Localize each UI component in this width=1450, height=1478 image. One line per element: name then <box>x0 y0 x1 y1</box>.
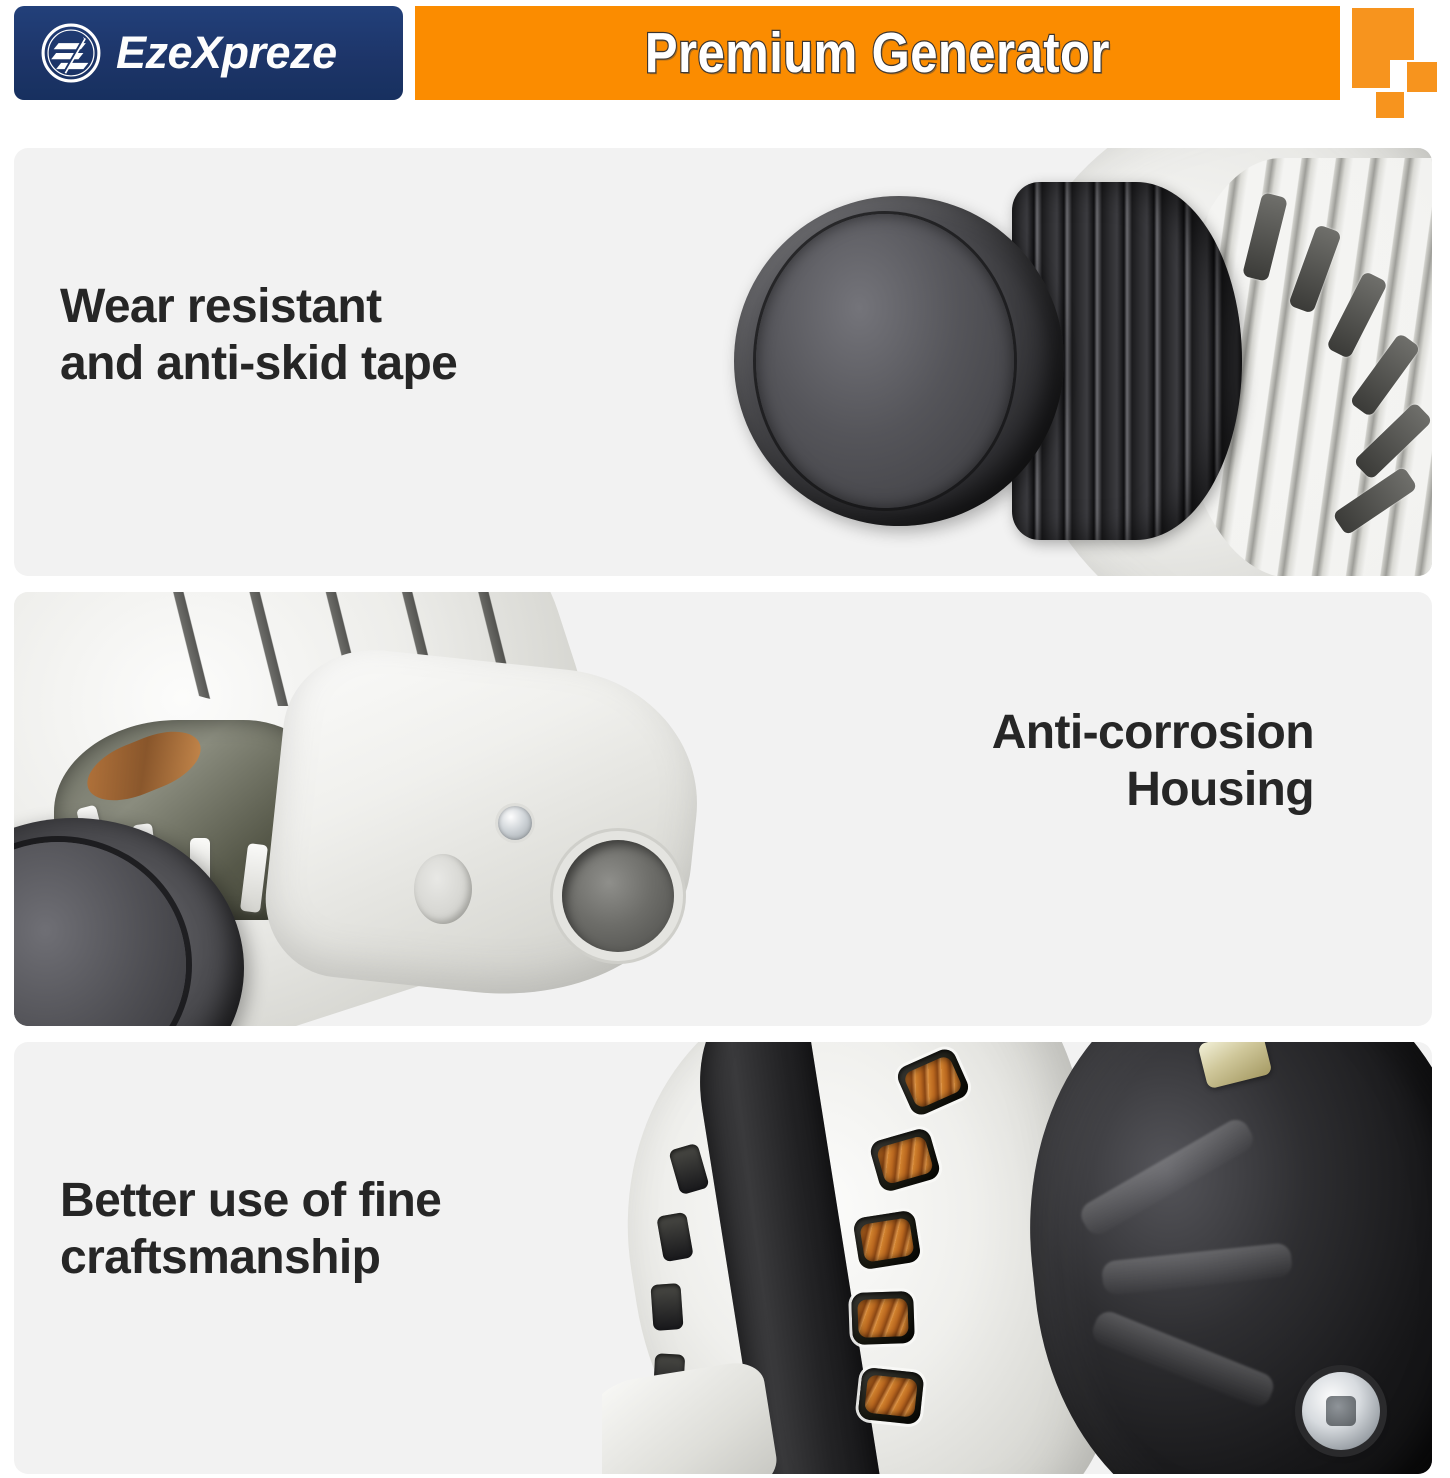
panel-1-caption: Wear resistant and anti-skid tape <box>60 278 457 392</box>
brand-badge[interactable]: EzeXpreze <box>14 6 403 100</box>
panel-3-caption: Better use of fine craftsmanship <box>60 1172 441 1286</box>
feature-panel-wear-resistant: Wear resistant and anti-skid tape <box>14 148 1432 576</box>
ezexpreze-z-emblem-icon <box>40 22 102 84</box>
panel-2-caption: Anti-corrosion Housing <box>992 704 1314 818</box>
alternator-body-vents-copper-windings-photo <box>602 1042 1432 1474</box>
brand-name: EzeXpreze <box>116 27 337 79</box>
title-banner: Premium Generator <box>415 6 1340 100</box>
alternator-housing-mounting-ear-photo <box>14 592 714 1026</box>
page-title: Premium Generator <box>645 20 1110 86</box>
pixel-blocks-decoration <box>1352 4 1450 116</box>
page-header: EzeXpreze Premium Generator <box>0 0 1450 110</box>
alternator-pulley-closeup-photo <box>712 148 1432 576</box>
feature-panel-anti-corrosion: Anti-corrosion Housing <box>14 592 1432 1026</box>
feature-panel-craftsmanship: Better use of fine craftsmanship <box>14 1042 1432 1474</box>
